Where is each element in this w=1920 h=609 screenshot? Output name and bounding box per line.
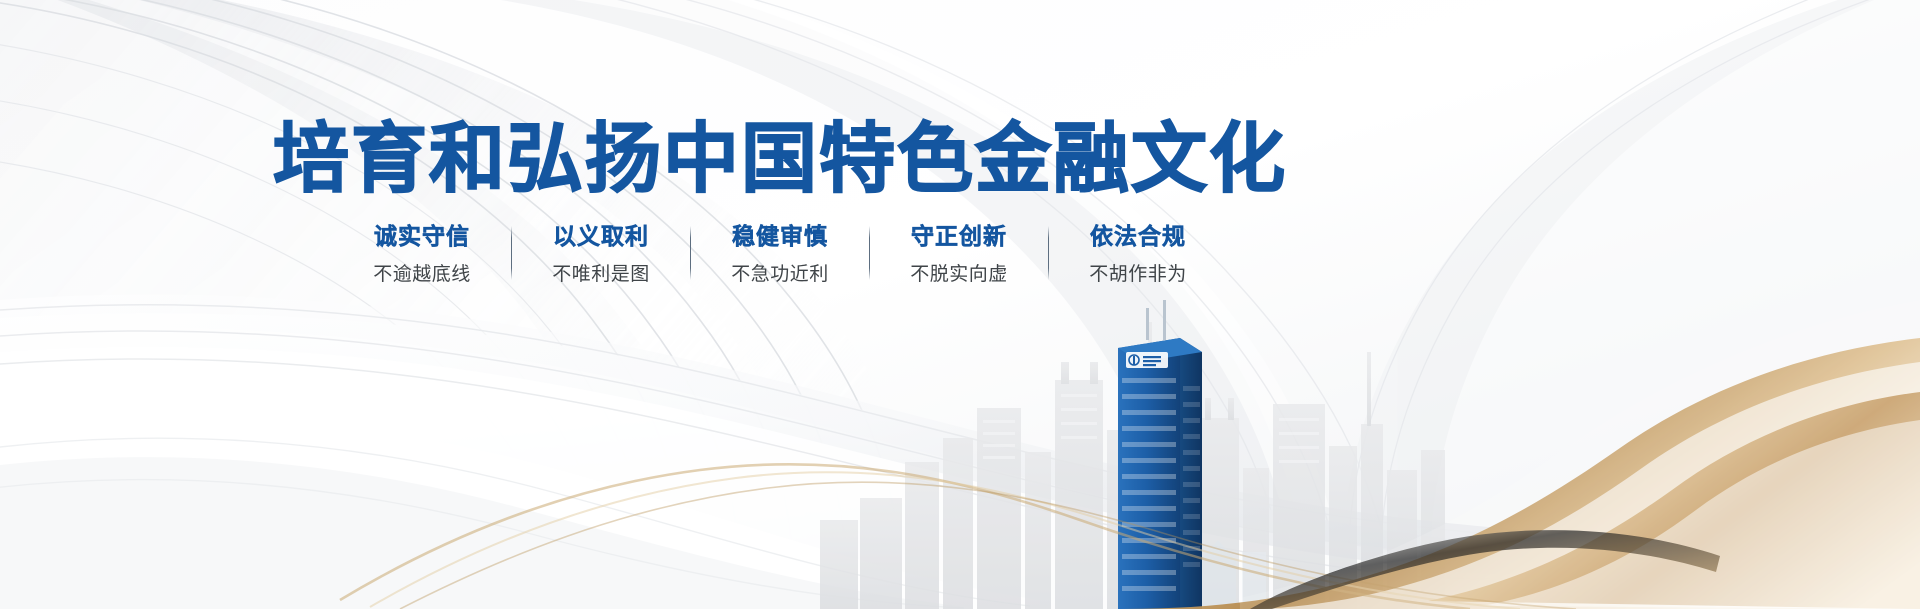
pillar-subtext: 不胡作非为 <box>1089 261 1187 287</box>
pillar-divider <box>511 226 512 280</box>
page-title: 培育和弘扬中国特色金融文化 <box>0 118 1560 200</box>
pillar-item-2: 以义取利 不唯利是图 <box>526 222 676 287</box>
pillars-row: 诚实守信 不逾越底线 以义取利 不唯利是图 稳健审慎 不急功近利 守正创新 不脱… <box>0 222 1560 287</box>
pillar-subtext: 不逾越底线 <box>373 261 471 287</box>
pillar-heading: 依法合规 <box>1090 222 1186 252</box>
banner-content: 培育和弘扬中国特色金融文化 诚实守信 不逾越底线 以义取利 不唯利是图 稳健审慎… <box>0 0 1920 609</box>
pillar-subtext: 不脱实向虚 <box>910 261 1008 287</box>
pillar-item-5: 依法合规 不胡作非为 <box>1063 222 1213 287</box>
pillar-divider <box>690 226 691 280</box>
pillar-subtext: 不唯利是图 <box>552 261 650 287</box>
pillar-heading: 稳健审慎 <box>732 222 828 252</box>
pillar-heading: 守正创新 <box>911 222 1007 252</box>
pillar-item-1: 诚实守信 不逾越底线 <box>347 222 497 287</box>
pillar-divider <box>869 226 870 280</box>
pillar-divider <box>1048 226 1049 280</box>
pillar-item-4: 守正创新 不脱实向虚 <box>884 222 1034 287</box>
pillar-heading: 诚实守信 <box>374 222 470 252</box>
pillar-subtext: 不急功近利 <box>731 261 829 287</box>
finance-culture-banner: 培育和弘扬中国特色金融文化 诚实守信 不逾越底线 以义取利 不唯利是图 稳健审慎… <box>0 0 1920 609</box>
pillar-heading: 以义取利 <box>553 222 649 252</box>
pillar-item-3: 稳健审慎 不急功近利 <box>705 222 855 287</box>
